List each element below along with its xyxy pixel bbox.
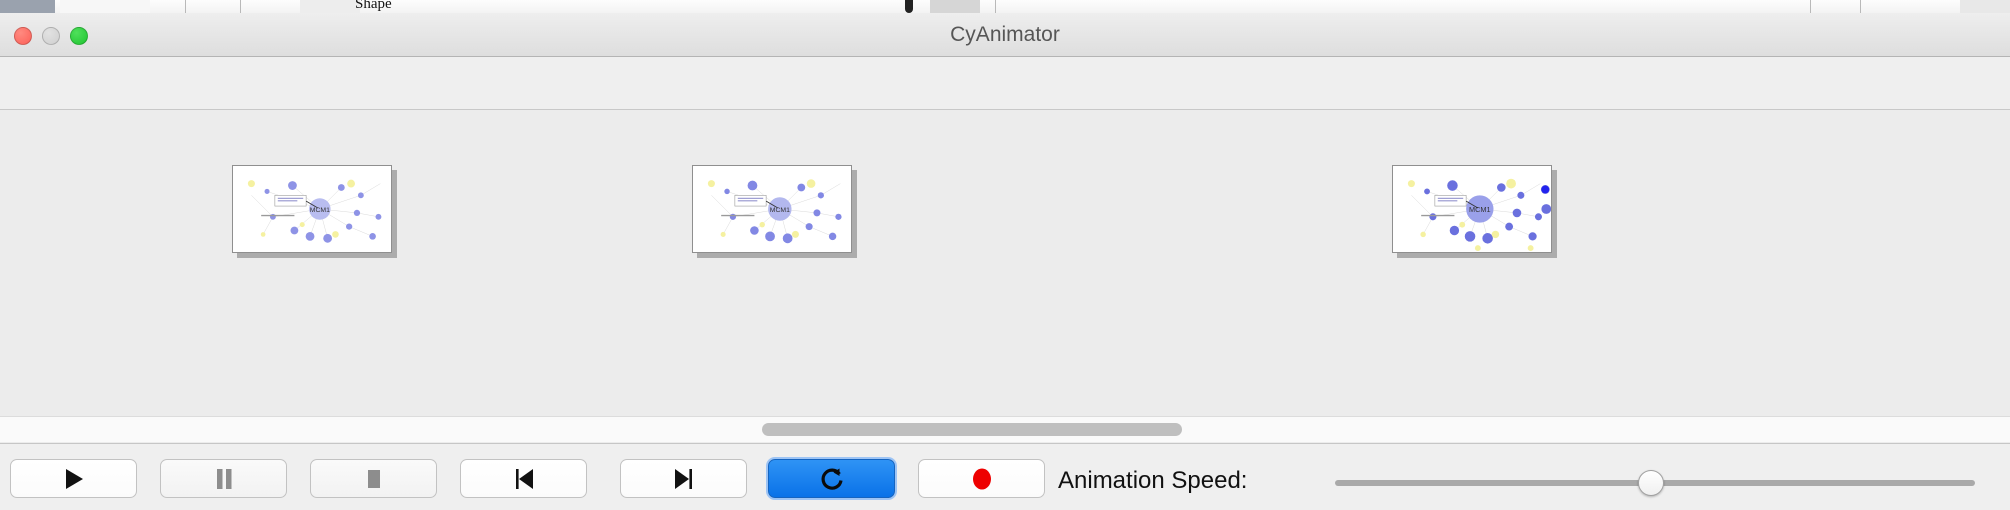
skip-back-icon bbox=[512, 467, 536, 491]
bg-divider bbox=[240, 0, 241, 13]
bg-chip bbox=[930, 0, 980, 13]
animation-speed-slider-knob[interactable] bbox=[1638, 470, 1664, 496]
title-bar: CyAnimator bbox=[0, 13, 2010, 57]
network-thumbnail-image: MCM1 bbox=[233, 166, 391, 252]
timeline-scrollbar-thumb[interactable] bbox=[762, 423, 1182, 436]
bg-divider bbox=[1860, 0, 1861, 13]
loop-button[interactable] bbox=[768, 459, 895, 498]
background-window-word: Shape bbox=[355, 0, 392, 13]
record-icon bbox=[970, 466, 994, 492]
bg-chip bbox=[905, 0, 913, 13]
bg-divider bbox=[995, 0, 996, 13]
bg-chip bbox=[0, 0, 55, 13]
svg-text:MCM1: MCM1 bbox=[310, 207, 330, 214]
frame-thumbnail[interactable]: MCM1 bbox=[1392, 165, 1552, 253]
bg-chip bbox=[1960, 0, 2010, 13]
stop-icon bbox=[363, 467, 385, 491]
skip-forward-icon bbox=[672, 467, 696, 491]
pause-button[interactable] bbox=[160, 459, 287, 498]
stop-button[interactable] bbox=[310, 459, 437, 498]
frame-thumbnail[interactable]: MCM1 bbox=[692, 165, 852, 253]
animation-speed-label: Animation Speed: bbox=[1058, 467, 1247, 495]
skip-forward-button[interactable] bbox=[620, 459, 747, 498]
toolbar: ✚ Clear All Frames bbox=[0, 57, 2010, 110]
record-button[interactable] bbox=[918, 459, 1045, 498]
pause-icon bbox=[213, 467, 235, 491]
bg-divider bbox=[185, 0, 186, 13]
playback-control-bar: Animation Speed: bbox=[0, 443, 2010, 510]
network-thumbnail-image: MCM1 bbox=[693, 166, 851, 252]
play-icon bbox=[63, 467, 85, 491]
svg-text:MCM1: MCM1 bbox=[1469, 205, 1491, 214]
timeline-scrollbar-track[interactable] bbox=[0, 416, 2010, 442]
svg-text:MCM1: MCM1 bbox=[770, 207, 790, 214]
bg-divider bbox=[1810, 0, 1811, 13]
network-thumbnail-image: MCM1 bbox=[1393, 166, 1551, 252]
play-button[interactable] bbox=[10, 459, 137, 498]
frame-thumbnail[interactable]: MCM1 bbox=[232, 165, 392, 253]
window-title: CyAnimator bbox=[0, 13, 2010, 57]
timeline-panel[interactable]: MCM1 bbox=[0, 111, 2010, 415]
bg-chip bbox=[300, 0, 360, 13]
bg-chip bbox=[60, 0, 150, 13]
skip-back-button[interactable] bbox=[460, 459, 587, 498]
background-window-strip: Shape bbox=[0, 0, 2010, 13]
loop-icon bbox=[819, 466, 845, 492]
cyanimator-window: Shape CyAnimator ✚ Clear All bbox=[0, 0, 2010, 510]
